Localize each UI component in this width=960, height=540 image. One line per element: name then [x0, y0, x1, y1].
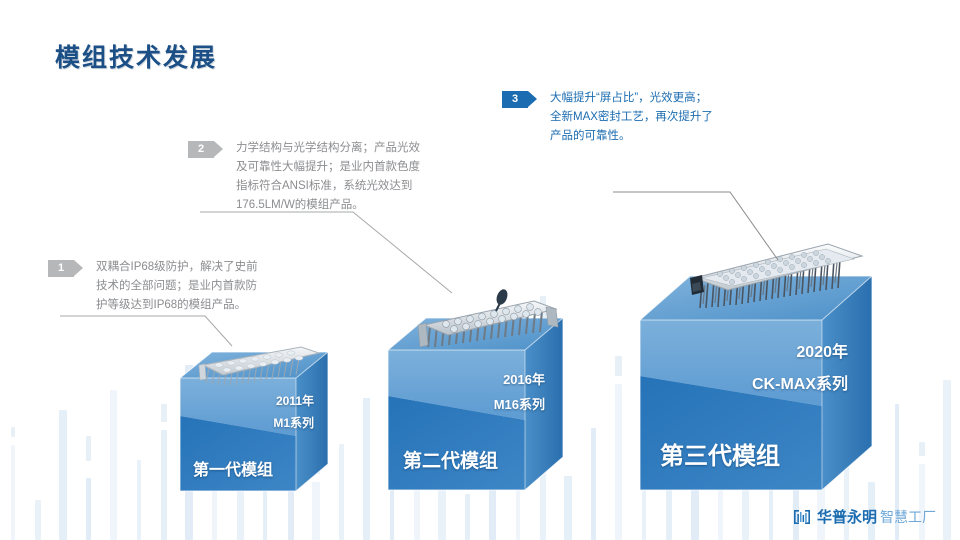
background-bar	[137, 460, 141, 540]
callout-2-badge: 2	[188, 141, 214, 158]
callout-1-text: 双耦合IP68级防护，解决了史前 技术的全部问题；是业内首款防 护等级达到IP6…	[96, 258, 258, 315]
callout-3-text: 大幅提升“屏占比”，光效更高； 全新MAX密封工艺，再次提升了 产品的可靠性。	[550, 89, 713, 146]
cube-3-series: CK-MAX系列	[752, 370, 848, 394]
background-bar-segment	[919, 442, 925, 456]
background-bar	[86, 478, 91, 540]
led-module-image-3	[676, 228, 872, 333]
background-bar	[564, 476, 572, 540]
background-bar-segment	[615, 356, 622, 376]
callout-3[interactable]: 3 大幅提升“屏占比”，光效更高； 全新MAX密封工艺，再次提升了 产品的可靠性…	[502, 89, 713, 146]
callout-3-number: 3	[502, 91, 528, 108]
brand-logo: 华普永明 智慧工厂	[792, 506, 936, 527]
brand-name: 华普永明	[817, 506, 877, 527]
brand-tagline: 智慧工厂	[880, 507, 936, 527]
slide-canvas: 模组技术发展 1 双耦合IP68级防护，解决了史前 技术的全部问题；是业内首款防…	[0, 0, 960, 540]
background-bar	[161, 430, 167, 540]
background-bar	[615, 384, 622, 540]
brand-bracket-icon	[792, 507, 812, 527]
cube-3-generation: 第三代模组	[660, 436, 780, 471]
background-bar	[591, 428, 596, 540]
background-bar	[110, 390, 117, 540]
background-bar	[339, 444, 344, 540]
background-bar-segment	[86, 436, 91, 461]
background-bar	[943, 380, 951, 540]
background-bar	[59, 410, 67, 540]
cube-2-generation: 第二代模组	[403, 446, 498, 473]
callout-1[interactable]: 1 双耦合IP68级防护，解决了史前 技术的全部问题；是业内首款防 护等级达到I…	[48, 258, 258, 315]
callout-2[interactable]: 2 力学结构与光学结构分离；产品光效 及可靠性大幅提升；是业内首款色度 指标符合…	[188, 139, 420, 215]
callout-1-badge: 1	[48, 260, 74, 277]
cube-1-generation: 第一代模组	[193, 456, 273, 480]
callout-2-text: 力学结构与光学结构分离；产品光效 及可靠性大幅提升；是业内首款色度 指标符合AN…	[236, 139, 420, 215]
background-bar	[718, 490, 723, 540]
background-bar	[11, 445, 15, 540]
cube-1-series: M1系列	[273, 414, 314, 431]
callout-1-number: 1	[48, 260, 74, 277]
background-bar	[35, 500, 41, 540]
background-bar-segment	[11, 427, 15, 437]
callout-3-badge: 3	[502, 91, 528, 108]
led-module-image-1	[193, 335, 323, 402]
led-module-image-2	[412, 283, 564, 368]
background-bar-segment	[161, 404, 167, 422]
callout-2-number: 2	[188, 141, 214, 158]
cube-3-year: 2020年	[796, 338, 848, 362]
background-bar	[363, 398, 370, 540]
page-title: 模组技术发展	[55, 38, 217, 74]
background-bar	[212, 488, 217, 540]
cube-2-year: 2016年	[503, 369, 545, 388]
cube-2-series: M16系列	[494, 394, 545, 413]
background-bar	[919, 464, 925, 540]
background-bar	[465, 494, 470, 540]
